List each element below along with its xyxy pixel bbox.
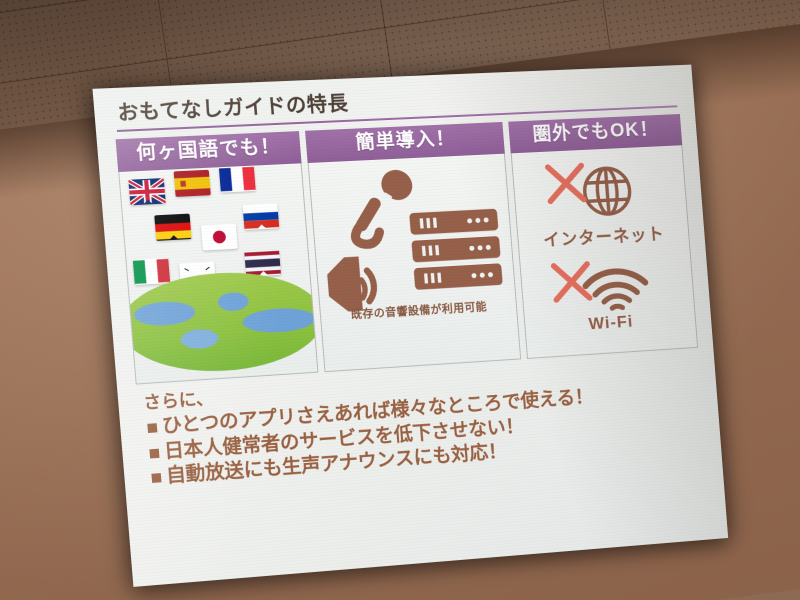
offline-item-internet: インターネット [513,151,689,252]
presentation-slide: おもてなしガイドの特長 何ヶ国語でも！ [92,65,728,587]
panel-offline-ok-body: インターネット [511,145,698,359]
flag-japan [201,223,238,250]
panel-languages-body [118,163,318,384]
equipment-icons: 既存の音響設備が利用可能 [308,154,517,332]
cross-out-icon-wifi [548,258,596,306]
flag-russia [243,203,280,230]
flag-united-kingdom [128,178,165,205]
conference-room-scene: おもてなしガイドの特長 何ヶ国語でも！ [0,0,800,600]
projection-screen: おもてなしガイドの特長 何ヶ国語でも！ [119,76,719,563]
flag-thailand [244,249,281,276]
offline-label-internet: インターネット [518,218,689,252]
amplifier-rack-icon [407,206,505,297]
panel-easy-install: 簡単導入！ [305,122,522,372]
flag-france [219,165,256,192]
offline-item-wifi: Wi-Fi [521,250,696,338]
flag-spain [174,170,211,197]
offline-label-wifi: Wi-Fi [525,308,695,338]
panel-easy-install-body: 既存の音響設備が利用可能 [307,154,521,373]
panel-offline-ok: 圏外でもOK！ [509,114,698,359]
flag-italy [133,258,170,285]
flag-grid [119,163,312,323]
flag-germany [154,213,191,240]
feature-panels: 何ヶ国語でも！ [116,114,699,385]
panel-languages: 何ヶ国語でも！ [116,131,318,384]
cross-out-icon-internet [542,160,590,208]
